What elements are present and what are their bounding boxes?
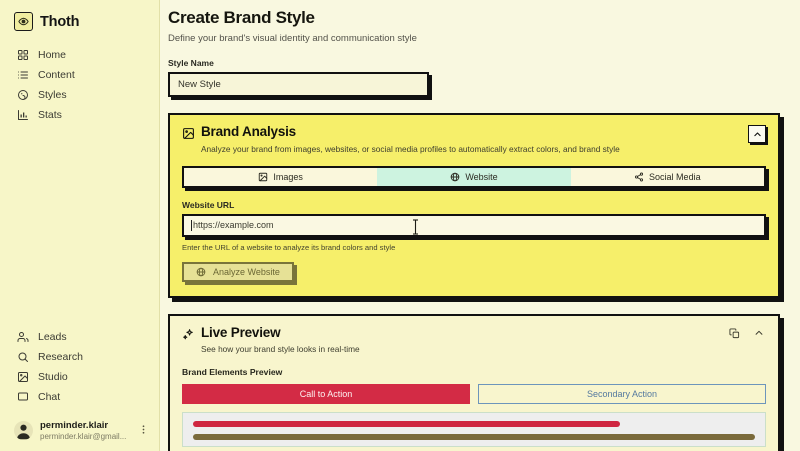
globe-icon	[196, 267, 206, 277]
image-icon	[258, 172, 268, 182]
sidebar-item-styles[interactable]: Styles	[0, 85, 159, 105]
preview-bar-primary	[193, 421, 620, 427]
sidebar-item-label: Home	[38, 49, 66, 61]
brand-analysis-text: Brand Analysis Analyze your brand from i…	[201, 125, 620, 154]
brand-analysis-card: Brand Analysis Analyze your brand from i…	[168, 113, 780, 298]
share-icon	[634, 172, 644, 182]
tab-images[interactable]: Images	[184, 168, 377, 186]
avatar	[14, 421, 33, 440]
preview-bar-secondary	[193, 434, 755, 440]
brand-analysis-header: Brand Analysis Analyze your brand from i…	[182, 125, 766, 154]
sidebar-nav-top: Home Content	[0, 45, 159, 125]
mouse-text-cursor	[412, 219, 419, 235]
eye-logo-icon	[14, 12, 33, 31]
preview-skeleton-panel	[182, 412, 766, 447]
secondary-action-button[interactable]: Secondary Action	[478, 384, 766, 404]
sidebar-item-leads[interactable]: Leads	[0, 327, 159, 347]
main-content: Create Brand Style Define your brand's v…	[160, 0, 800, 451]
preview-buttons: Call to Action Secondary Action	[182, 384, 766, 404]
sidebar-item-label: Studio	[38, 371, 68, 383]
sidebar-item-label: Content	[38, 69, 75, 81]
tab-label: Website	[465, 172, 497, 182]
live-preview-actions	[727, 326, 766, 341]
chevron-up-icon[interactable]	[751, 326, 766, 341]
sidebar-spacer	[0, 125, 159, 327]
website-url-label: Website URL	[182, 200, 766, 210]
sidebar-item-chat[interactable]: Chat	[0, 387, 159, 407]
sidebar-item-content[interactable]: Content	[0, 65, 159, 85]
user-account-row[interactable]: perminder.klair perminder.klair@gmail...	[0, 413, 159, 451]
brand-logo-row[interactable]: Thoth	[0, 8, 159, 31]
sidebar-nav-bottom: Leads Research Studio	[0, 327, 159, 407]
user-name: perminder.klair	[40, 421, 129, 432]
website-url-help: Enter the URL of a website to analyze it…	[182, 243, 766, 252]
style-name-input[interactable]: New Style	[168, 72, 429, 97]
image-icon	[16, 370, 29, 383]
live-preview-description: See how your brand style looks in real-t…	[201, 344, 360, 354]
brand-elements-preview-label: Brand Elements Preview	[182, 367, 766, 377]
sidebar-item-label: Stats	[38, 109, 62, 121]
brand-name: Thoth	[40, 14, 79, 30]
palette-icon	[16, 89, 29, 102]
live-preview-card: Live Preview See how your brand style lo…	[168, 314, 780, 451]
bar-chart-icon	[16, 109, 29, 122]
call-to-action-button[interactable]: Call to Action	[182, 384, 470, 404]
sidebar-item-studio[interactable]: Studio	[0, 367, 159, 387]
brand-analysis-actions	[748, 125, 766, 143]
style-name-field: Style Name New Style	[168, 58, 780, 97]
page-subtitle: Define your brand's visual identity and …	[168, 33, 780, 44]
message-icon	[16, 390, 29, 403]
grid-icon	[16, 49, 29, 62]
chevron-up-icon[interactable]	[748, 125, 766, 143]
globe-icon	[450, 172, 460, 182]
copy-icon[interactable]	[727, 326, 742, 341]
sidebar-item-label: Chat	[38, 391, 60, 403]
image-icon	[182, 127, 195, 140]
list-icon	[16, 69, 29, 82]
user-email: perminder.klair@gmail...	[40, 432, 129, 441]
users-icon	[16, 330, 29, 343]
sidebar-item-research[interactable]: Research	[0, 347, 159, 367]
sidebar-item-label: Styles	[38, 89, 67, 101]
search-icon	[16, 350, 29, 363]
tab-website[interactable]: Website	[377, 168, 570, 186]
app-root: Thoth Home Content	[0, 0, 800, 451]
user-info: perminder.klair perminder.klair@gmail...	[40, 421, 129, 441]
sidebar-item-home[interactable]: Home	[0, 45, 159, 65]
sidebar-item-stats[interactable]: Stats	[0, 105, 159, 125]
live-preview-header: Live Preview See how your brand style lo…	[182, 326, 766, 355]
live-preview-text: Live Preview See how your brand style lo…	[201, 326, 360, 355]
style-name-value: New Style	[178, 79, 221, 90]
page-title: Create Brand Style	[168, 8, 780, 28]
sidebar: Thoth Home Content	[0, 0, 160, 451]
website-url-input[interactable]: https://example.com	[182, 214, 766, 237]
sparkles-icon	[182, 328, 195, 341]
brand-analysis-tabs: Images Website	[182, 166, 766, 188]
brand-analysis-title: Brand Analysis	[201, 125, 620, 139]
live-preview-title: Live Preview	[201, 326, 360, 340]
analyze-website-label: Analyze Website	[213, 267, 280, 277]
brand-analysis-description: Analyze your brand from images, websites…	[201, 144, 620, 154]
style-name-label: Style Name	[168, 58, 780, 68]
sidebar-item-label: Leads	[38, 331, 67, 343]
tab-social-media[interactable]: Social Media	[571, 168, 764, 186]
tab-label: Images	[273, 172, 303, 182]
analyze-website-button[interactable]: Analyze Website	[182, 262, 294, 282]
text-caret	[191, 220, 192, 231]
tab-label: Social Media	[649, 172, 701, 182]
more-vertical-icon[interactable]	[136, 423, 151, 439]
website-url-placeholder: https://example.com	[193, 220, 274, 230]
sidebar-item-label: Research	[38, 351, 83, 363]
